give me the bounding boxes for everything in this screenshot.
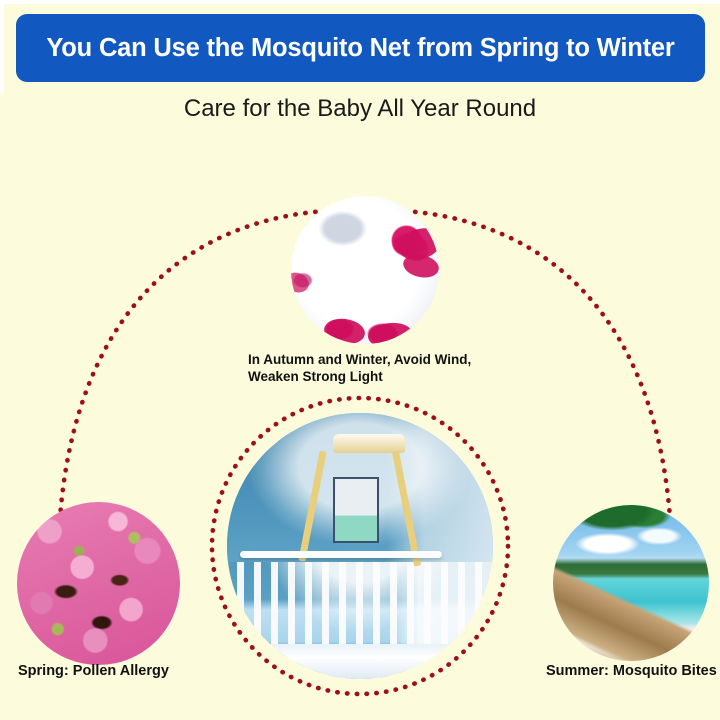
- caption-autumn-winter-line1: In Autumn and Winter, Avoid Wind,: [248, 352, 498, 369]
- caption-autumn-winter: In Autumn and Winter, Avoid Wind, Weaken…: [248, 352, 498, 386]
- photo-summer-tropical-beach: [553, 505, 709, 661]
- headline-banner: You Can Use the Mosquito Net from Spring…: [16, 14, 705, 82]
- caption-spring: Spring: Pollen Allergy: [18, 662, 169, 680]
- wall-picture-frame: [333, 477, 378, 544]
- crib-rail-top: [240, 551, 442, 558]
- product-infographic: You Can Use the Mosquito Net from Spring…: [0, 0, 720, 720]
- subheadline-text: Care for the Baby All Year Round: [0, 95, 720, 123]
- photo-autumn-winter-snow-blossom: [291, 196, 439, 344]
- caption-summer: Summer: Mosquito Bites: [546, 662, 717, 680]
- headline-text: You Can Use the Mosquito Net from Spring…: [46, 34, 674, 63]
- blossom-petal: [291, 269, 311, 295]
- photo-spring-pink-blossoms: [17, 502, 180, 665]
- crib-base: [227, 644, 493, 679]
- frame-left-edge: [0, 0, 4, 300]
- photo-baby-crib-mosquito-net: [227, 413, 493, 679]
- caption-autumn-winter-line2: Weaken Strong Light: [248, 369, 498, 386]
- blossom-petal: [367, 321, 414, 344]
- frame-top-edge: [0, 0, 720, 4]
- blossom-petal: [322, 316, 367, 344]
- blossom-petal: [402, 252, 439, 281]
